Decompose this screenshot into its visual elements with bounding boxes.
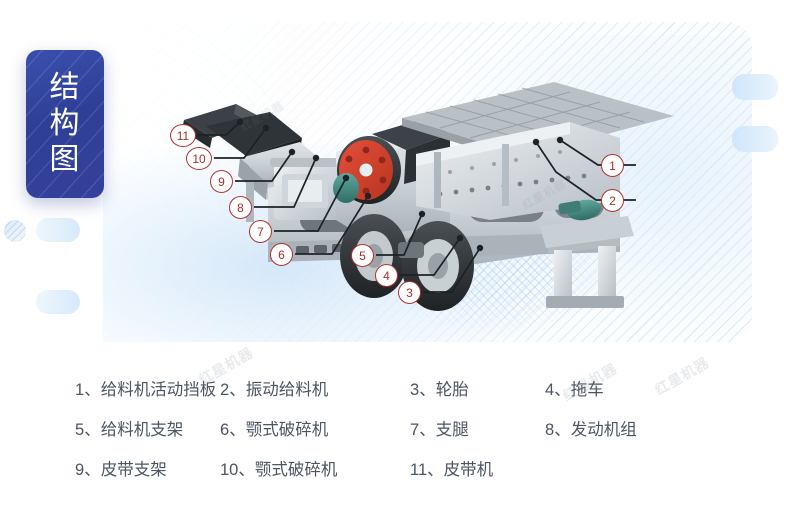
legend-row: 5、给料机支架 6、颚式破碎机 7、支腿 8、发动机组 [0, 408, 800, 448]
legend-label: 给料机支架 [101, 421, 184, 439]
legend-sep: 、 [554, 381, 571, 399]
legend-num: 3 [410, 381, 419, 399]
legend-num: 2 [220, 381, 229, 399]
edge-tab-left-bottom [36, 290, 80, 314]
legend-num: 5 [75, 421, 84, 439]
callout-marker-8[interactable]: 8 [229, 196, 252, 219]
legend-list: 1、给料机活动挡板 2、振动给料机 3、轮胎 4、拖车 5、给料机支架 6、颚式… [0, 368, 800, 488]
legend-item-4: 4、拖车 [545, 376, 715, 400]
callout-marker-6[interactable]: 6 [270, 243, 293, 266]
legend-sep: 、 [229, 381, 246, 399]
legend-row: 1、给料机活动挡板 2、振动给料机 3、轮胎 4、拖车 [0, 368, 800, 408]
callout-marker-2[interactable]: 2 [601, 189, 624, 212]
callout-marker-9[interactable]: 9 [210, 170, 233, 193]
legend-item-9: 9、皮带支架 [0, 456, 220, 480]
legend-num: 8 [545, 421, 554, 439]
callout-marker-7[interactable]: 7 [249, 220, 272, 243]
edge-tab-left-top [36, 218, 80, 242]
legend-item-2: 2、振动给料机 [220, 376, 410, 400]
legend-sep: 、 [84, 381, 101, 399]
legend-num: 11 [410, 461, 427, 479]
badge-char-1: 结 [50, 70, 81, 106]
legend-num: 4 [545, 381, 554, 399]
badge-char-3: 图 [50, 142, 81, 178]
callout-marker-3[interactable]: 3 [398, 281, 421, 304]
legend-label: 支腿 [436, 421, 469, 439]
legend-label: 皮带机 [444, 461, 494, 479]
legend-item-1: 1、给料机活动挡板 [0, 376, 220, 400]
legend-label: 轮胎 [436, 381, 469, 399]
legend-label: 拖车 [571, 381, 604, 399]
legend-num: 10 [220, 461, 238, 479]
legend-label: 颚式破碎机 [246, 421, 329, 439]
vibrating-feeder [402, 82, 674, 223]
support-legs [540, 216, 634, 308]
legend-num: 7 [410, 421, 419, 439]
callout-marker-10[interactable]: 10 [186, 147, 212, 170]
legend-item-10: 10、颚式破碎机 [220, 456, 410, 480]
legend-item-5: 5、给料机支架 [0, 416, 220, 440]
legend-label: 发动机组 [571, 421, 637, 439]
badge-char-2: 构 [50, 106, 81, 142]
callout-marker-1[interactable]: 1 [601, 154, 624, 177]
legend-row: 9、皮带支架 10、颚式破碎机 11、皮带机 [0, 448, 800, 488]
legend-label: 给料机活动挡板 [101, 381, 217, 399]
legend-item-6: 6、颚式破碎机 [220, 416, 410, 440]
legend-num: 1 [75, 381, 84, 399]
callout-marker-11[interactable]: 11 [170, 124, 196, 147]
legend-sep: 、 [554, 421, 571, 439]
legend-num: 6 [220, 421, 229, 439]
legend-sep: 、 [427, 461, 444, 479]
legend-sep: 、 [419, 381, 436, 399]
page-title-badge: 结 构 图 [26, 50, 104, 198]
legend-sep: 、 [229, 421, 246, 439]
legend-item-11: 11、皮带机 [410, 456, 545, 480]
legend-sep: 、 [238, 461, 255, 479]
edge-tab-right-bottom [732, 126, 778, 152]
edge-tab-right-top [732, 74, 778, 100]
legend-sep: 、 [84, 461, 101, 479]
callout-marker-4[interactable]: 4 [375, 264, 398, 287]
callout-marker-5[interactable]: 5 [351, 244, 374, 267]
legend-item-8: 8、发动机组 [545, 416, 715, 440]
legend-label: 振动给料机 [246, 381, 329, 399]
legend-item-7: 7、支腿 [410, 416, 545, 440]
legend-sep: 、 [84, 421, 101, 439]
legend-label: 颚式破碎机 [255, 461, 338, 479]
legend-num: 9 [75, 461, 84, 479]
edge-dot-decoration [4, 220, 26, 242]
legend-item-3: 3、轮胎 [410, 376, 545, 400]
legend-sep: 、 [419, 421, 436, 439]
legend-label: 皮带支架 [101, 461, 167, 479]
